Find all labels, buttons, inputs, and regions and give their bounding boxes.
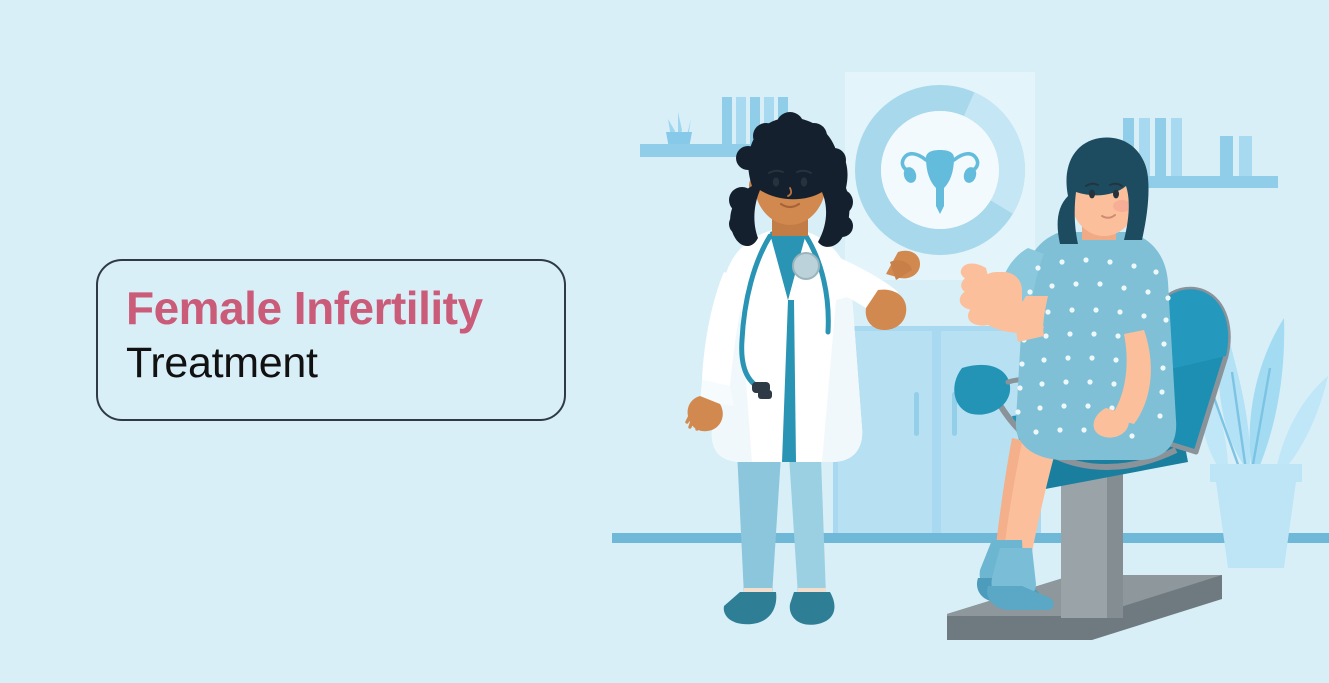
title-line-secondary: Treatment <box>126 339 318 388</box>
title-card: Female Infertility Treatment <box>96 259 566 421</box>
title-line-primary: Female Infertility <box>126 281 483 335</box>
stethoscope-chestpiece <box>793 253 819 279</box>
patient-gown <box>998 232 1176 460</box>
floor-baseboard <box>612 533 1329 543</box>
banner-root: Female Infertility Treatment <box>0 0 1329 683</box>
